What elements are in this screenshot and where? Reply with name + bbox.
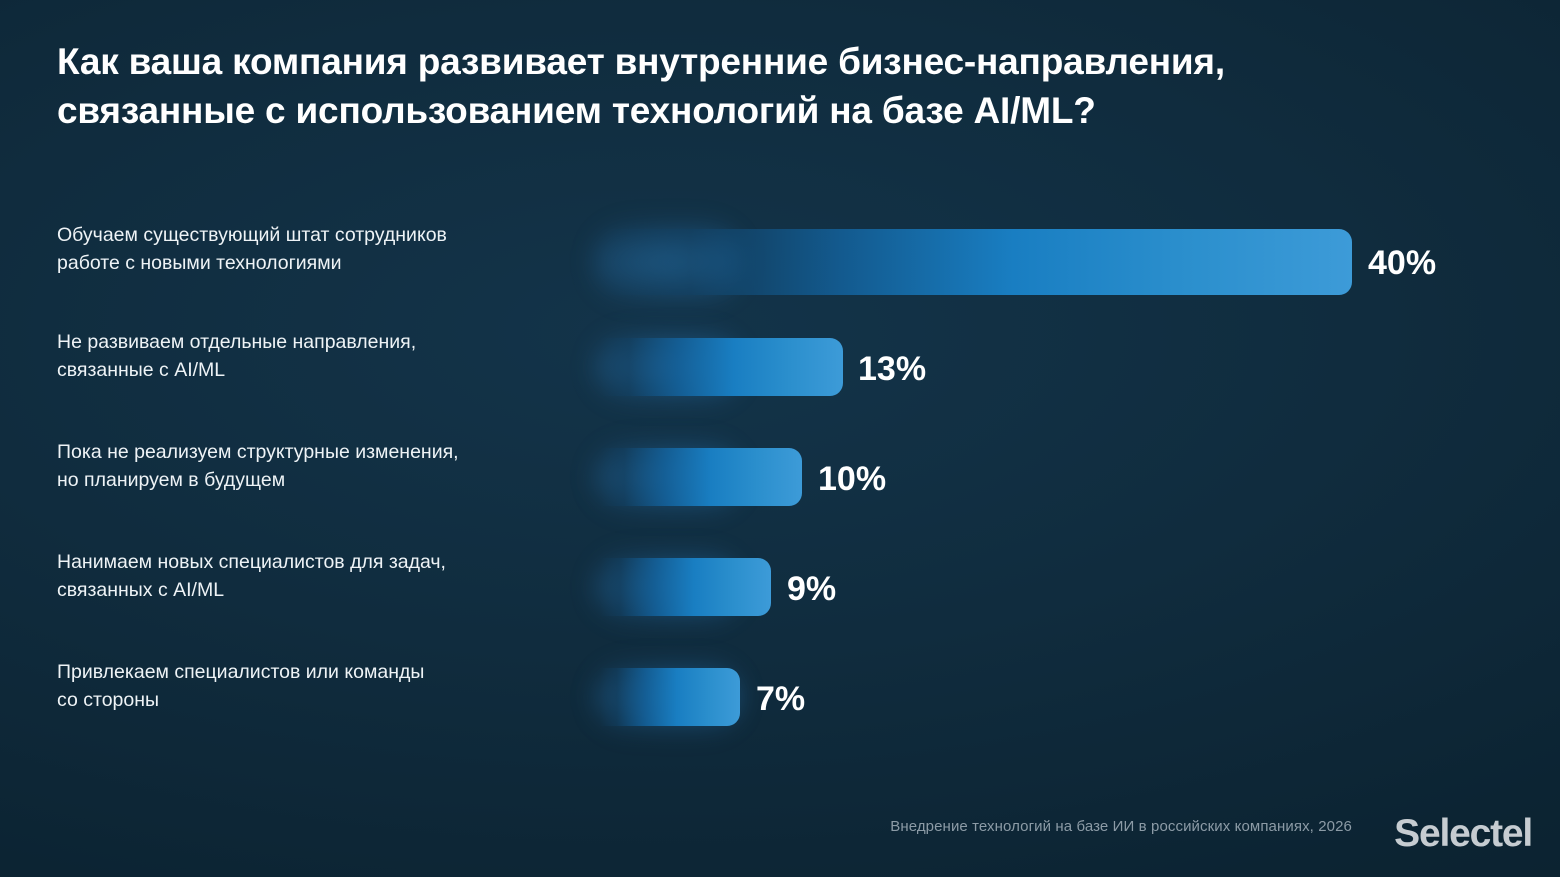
- bar-category-label: Привлекаем специалистов или команды со с…: [57, 659, 587, 714]
- bar-value-label: 9%: [787, 572, 836, 606]
- bar-value-label: 7%: [756, 682, 805, 716]
- bar-fill: [600, 668, 740, 726]
- bar-fill: [600, 558, 771, 616]
- chart-row: Пока не реализуем структурные изменения,…: [0, 429, 1560, 515]
- bar-track: [600, 338, 843, 396]
- chart-row: Не развиваем отдельные направления, связ…: [0, 319, 1560, 405]
- bar-fill: [600, 448, 802, 506]
- bar-fill: [600, 338, 843, 396]
- chart-row: Обучаем существующий штат сотрудников ра…: [0, 209, 1560, 295]
- bar-category-label: Нанимаем новых специалистов для задач, с…: [57, 549, 587, 604]
- selectel-logo: Selectel: [1394, 814, 1532, 853]
- bar-track: [600, 668, 740, 726]
- bar-category-label: Не развиваем отдельные направления, связ…: [57, 329, 587, 384]
- bar-category-label: Пока не реализуем структурные изменения,…: [57, 439, 587, 494]
- bar-value-label: 10%: [818, 462, 886, 496]
- bar-track: [600, 448, 802, 506]
- bar-track: [600, 229, 1352, 295]
- chart-page: Как ваша компания развивает внутренние б…: [0, 0, 1560, 877]
- chart-row: Нанимаем новых специалистов для задач, с…: [0, 539, 1560, 625]
- bar-track: [600, 558, 771, 616]
- bar-value-label: 13%: [858, 352, 926, 386]
- bar-value-label: 40%: [1368, 246, 1436, 280]
- chart-row: Привлекаем специалистов или команды со с…: [0, 649, 1560, 735]
- bar-chart: Обучаем существующий штат сотрудников ра…: [0, 190, 1560, 750]
- bar-category-label: Обучаем существующий штат сотрудников ра…: [57, 222, 587, 277]
- source-caption: Внедрение технологий на базе ИИ в россий…: [890, 818, 1352, 835]
- page-title: Как ваша компания развивает внутренние б…: [57, 38, 1477, 136]
- bar-fill: [600, 229, 1352, 295]
